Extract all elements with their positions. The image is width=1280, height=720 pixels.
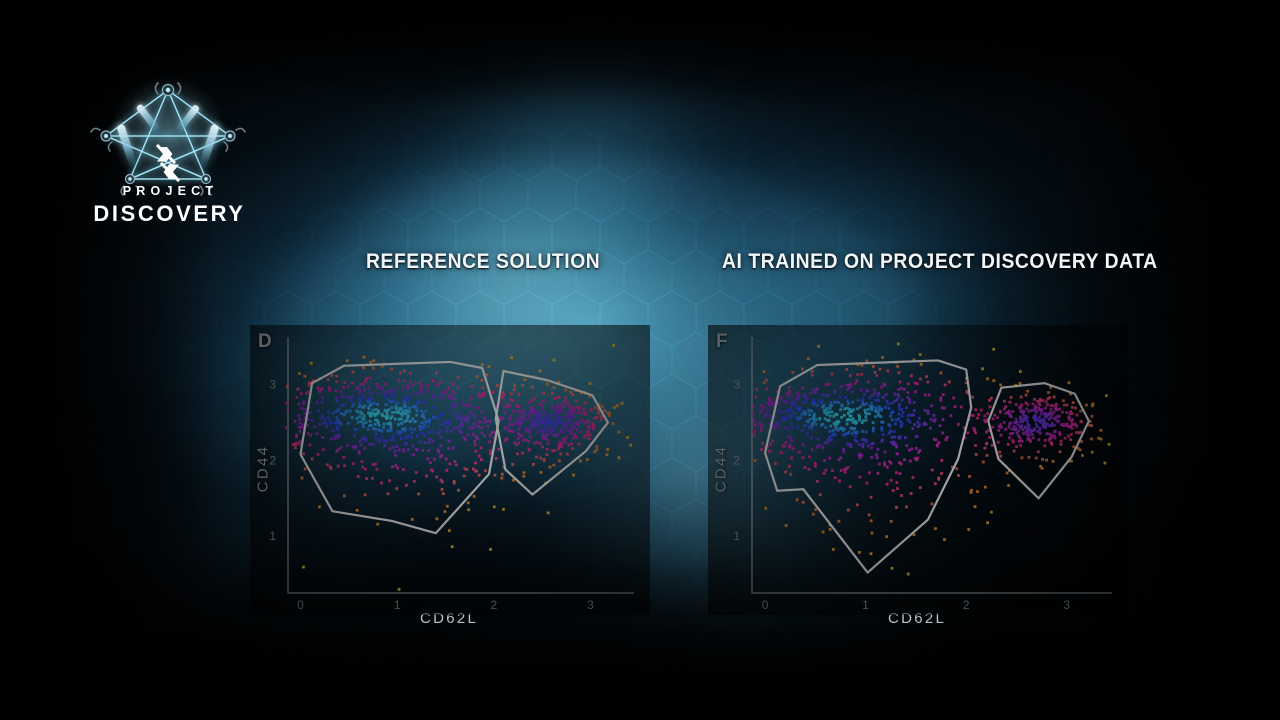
project-discovery-logo: PROJECT DISCOVERY [82,76,254,236]
svg-text:2: 2 [733,453,740,467]
svg-text:3: 3 [587,598,594,612]
svg-text:2: 2 [490,598,497,612]
svg-text:0: 0 [297,598,304,612]
scatter-points [751,342,1111,575]
panel-title-reference: REFERENCE SOLUTION [366,250,600,274]
svg-text:1: 1 [394,598,401,612]
screenshot-root: PROJECT DISCOVERY REFERENCE SOLUTION AI … [0,0,1280,720]
panel-title-ai: AI TRAINED ON PROJECT DISCOVERY DATA [722,250,1158,274]
plot-panel-ai: F CD44 CD62L 0123123 [708,325,1128,635]
logo-text-project: PROJECT [82,184,254,198]
scatter-points [285,344,632,591]
logo-text-discovery: DISCOVERY [82,201,254,227]
svg-text:3: 3 [269,378,276,392]
svg-text:1: 1 [862,598,869,612]
svg-text:1: 1 [733,529,740,543]
svg-text:1: 1 [269,529,276,543]
svg-text:3: 3 [733,378,740,392]
scatter-plot-ai: 0123123 [708,325,1128,635]
scatter-plot-reference: 0123123 [250,325,650,635]
svg-text:2: 2 [963,598,970,612]
svg-text:2: 2 [269,453,276,467]
plot-panel-reference: D CD44 CD62L 0123123 [250,325,650,635]
svg-text:0: 0 [762,598,769,612]
svg-text:3: 3 [1063,598,1070,612]
